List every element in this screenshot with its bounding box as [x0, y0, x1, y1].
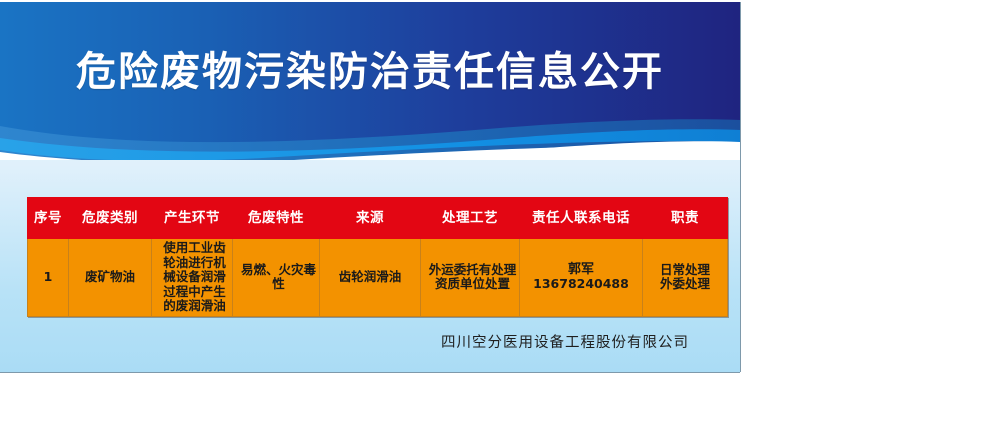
- column-header-stage: 产生环节: [152, 198, 233, 239]
- information-disclosure-poster: 危险废物污染防治责任信息公开 序号 危废类别 产生环节 危废特性 来源 处理工艺…: [0, 2, 740, 372]
- company-name: 四川空分医用设备工程股份有限公司: [400, 331, 730, 352]
- duty-line-1: 日常处理: [649, 263, 721, 278]
- cell-category: 废矿物油: [69, 239, 152, 317]
- column-header-source: 来源: [320, 198, 421, 239]
- cell-contact: 郭军 13678240488: [520, 239, 643, 317]
- column-header-contact: 责任人联系电话: [520, 198, 643, 239]
- cell-index: 1: [28, 239, 69, 317]
- hazardous-waste-table: 序号 危废类别 产生环节 危废特性 来源 处理工艺 责任人联系电话 职责 1 废…: [27, 197, 728, 317]
- column-header-process: 处理工艺: [421, 198, 520, 239]
- duty-line-2: 外委处理: [649, 277, 721, 292]
- page-title: 危险废物污染防治责任信息公开: [0, 46, 740, 98]
- column-header-index: 序号: [28, 198, 69, 239]
- cell-stage: 使用工业齿轮油进行机械设备润滑过程中产生的废润滑油: [152, 239, 233, 317]
- contact-person-phone: 13678240488: [522, 277, 640, 292]
- column-header-duty: 职责: [643, 198, 728, 239]
- column-header-characteristic: 危废特性: [233, 198, 320, 239]
- table-row: 1 废矿物油 使用工业齿轮油进行机械设备润滑过程中产生的废润滑油 易燃、火灾毒性…: [28, 239, 728, 317]
- column-header-category: 危废类别: [69, 198, 152, 239]
- cell-source: 齿轮润滑油: [320, 239, 421, 317]
- cell-process: 外运委托有处理资质单位处置: [421, 239, 520, 317]
- banner: 危险废物污染防治责任信息公开: [0, 2, 740, 160]
- table-header-row: 序号 危废类别 产生环节 危废特性 来源 处理工艺 责任人联系电话 职责: [28, 198, 728, 239]
- contact-person-name: 郭军: [522, 263, 640, 278]
- cell-duty: 日常处理 外委处理: [643, 239, 728, 317]
- cell-characteristic: 易燃、火灾毒性: [233, 239, 320, 317]
